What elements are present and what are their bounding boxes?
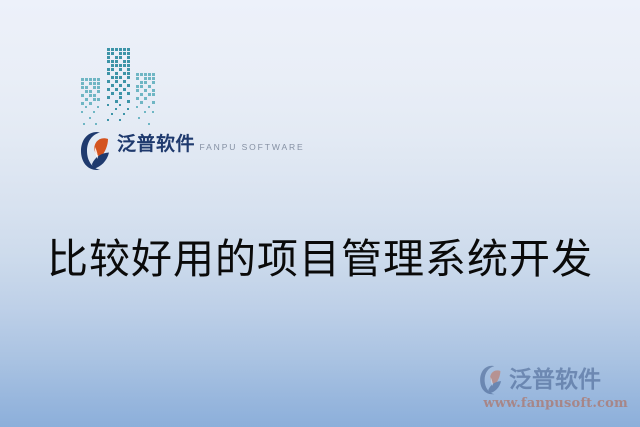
- brand-name-cn: 泛普软件: [117, 133, 195, 155]
- fanpu-logo-mark-icon: [80, 131, 111, 171]
- watermark-logo-row: 泛普软件: [476, 365, 628, 395]
- watermark: 泛普软件 www.fanpusoft.com: [476, 365, 628, 417]
- watermark-url: www.fanpusoft.com: [476, 396, 628, 412]
- pixel-skyline-icon: [78, 45, 186, 130]
- fanpu-watermark-mark-icon: [476, 365, 506, 395]
- page-title: 比较好用的项目管理系统开发: [0, 233, 640, 285]
- fanpu-logo: 泛普软件 FANPU SOFTWARE: [80, 131, 305, 171]
- fanpu-logo-text: 泛普软件 FANPU SOFTWARE: [117, 131, 305, 155]
- brand-name-en: FANPU SOFTWARE: [199, 142, 304, 152]
- watermark-brand-name: 泛普软件: [509, 367, 601, 393]
- promo-banner: 泛普软件 FANPU SOFTWARE 比较好用的项目管理系统开发 泛普软件 w…: [0, 0, 640, 427]
